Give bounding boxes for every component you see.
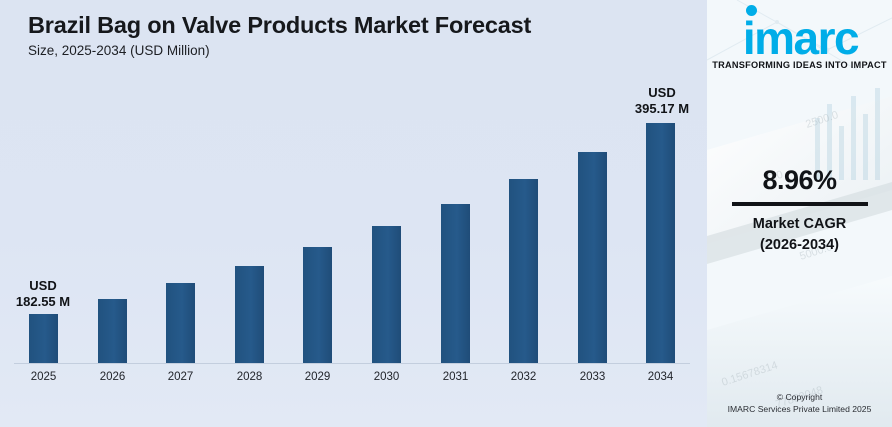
x-tick-label-2034: 2034 [631,371,691,383]
x-tick-label-2029: 2029 [288,371,348,383]
cagr-divider [732,202,868,206]
x-tick-label-2026: 2026 [83,371,143,383]
cagr-block: 8.96% Market CAGR (2026-2034) [707,165,892,256]
x-tick-label-2025: 2025 [14,371,74,383]
bar-chart-plot: USD 182.55 M USD 395.17 M 20252026202720… [0,0,707,427]
bar-value-last: USD 395.17 M [607,85,717,117]
x-tick-label-2027: 2027 [151,371,211,383]
brand-logo: imarc TRANSFORMING IDEAS INTO IMPACT [707,14,892,70]
company-line: IMARC Services Private Limited 2025 [707,403,892,415]
logo-dot-icon [746,5,757,16]
cagr-label: Market CAGR [707,214,892,235]
bar-2026 [98,299,127,363]
x-tick-label-2031: 2031 [426,371,486,383]
cagr-value: 8.96% [707,165,892,195]
x-tick-label-2030: 2030 [357,371,417,383]
bar-2029 [303,247,332,363]
bar-value-last-line1: USD [607,85,717,101]
bar-value-first: USD 182.55 M [0,278,98,310]
bar-2032 [509,179,538,363]
x-axis-line [14,363,690,364]
chart-infographic: Brazil Bag on Valve Products Market Fore… [0,0,892,427]
bar-value-last-line2: 395.17 M [607,101,717,117]
bar-2028 [235,266,264,363]
bar-value-first-line1: USD [0,278,98,294]
bar-2025 [29,314,58,363]
brand-panel: 5000.0 2500.0 0.0 0.15678314 77882048 im… [707,0,892,427]
bar-2033 [578,152,607,363]
x-tick-label-2032: 2032 [494,371,554,383]
imarc-wordmark: imarc [741,14,858,62]
copyright-block: © Copyright IMARC Services Private Limit… [707,391,892,415]
imarc-wordmark-text: imarc [743,12,858,64]
bar-2031 [441,204,470,363]
bar-2030 [372,226,401,363]
x-tick-label-2028: 2028 [220,371,280,383]
copyright-line: © Copyright [707,391,892,403]
bar-2034 [646,123,675,363]
bar-2027 [166,283,195,363]
chart-panel: Brazil Bag on Valve Products Market Fore… [0,0,707,427]
bar-value-first-line2: 182.55 M [0,294,98,310]
cagr-period: (2026-2034) [707,235,892,256]
x-tick-label-2033: 2033 [563,371,623,383]
